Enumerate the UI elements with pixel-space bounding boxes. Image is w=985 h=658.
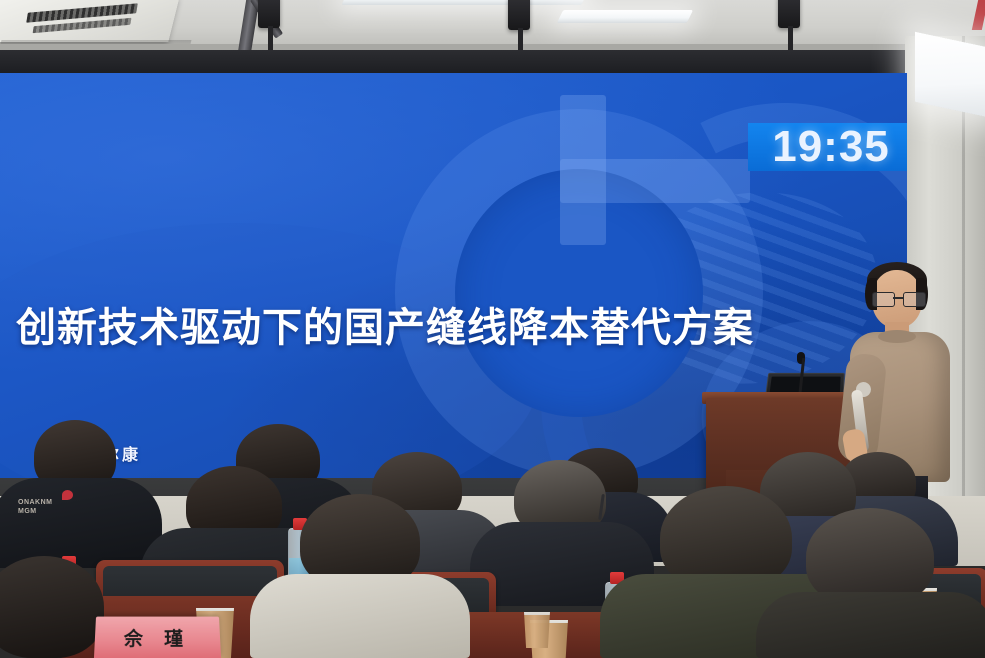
jacket-logo-line2: MGM [18,507,76,516]
glasses-icon [872,292,924,305]
hanging-speaker [778,0,800,28]
slide-title: 创新技术驱动下的国产缝线降本替代方案 [16,295,754,353]
audience-head-foreground [0,556,104,658]
hanging-speaker [508,0,530,30]
speaker-mount [268,26,273,52]
coffee-cup [524,612,550,648]
name-placard: 佘 瑾 [94,617,221,658]
speaker-mount [518,28,523,52]
audience-shoulders [0,478,162,568]
presenter-collar [878,330,916,343]
hanging-speaker [258,0,280,28]
jacket-logo-mark-icon [62,490,73,500]
audience-shoulders-foreground [250,574,470,658]
placard-name: 佘 瑾 [124,624,192,651]
audience-shoulders-foreground [756,592,985,658]
clock-display: 19:35 [748,123,907,171]
clock-time: 19:35 [772,122,890,172]
fluorescent-light [557,10,693,23]
speaker-mount [788,26,793,52]
conference-room-photo: 创新技术驱动下的国产缝线降本替代方案 健适华尔康 19:35 [0,0,985,658]
jacket-logo: ONAKNM MGM [18,498,76,522]
ceiling [0,0,985,50]
watermark-bar [560,159,750,203]
fluorescent-light [341,0,588,5]
